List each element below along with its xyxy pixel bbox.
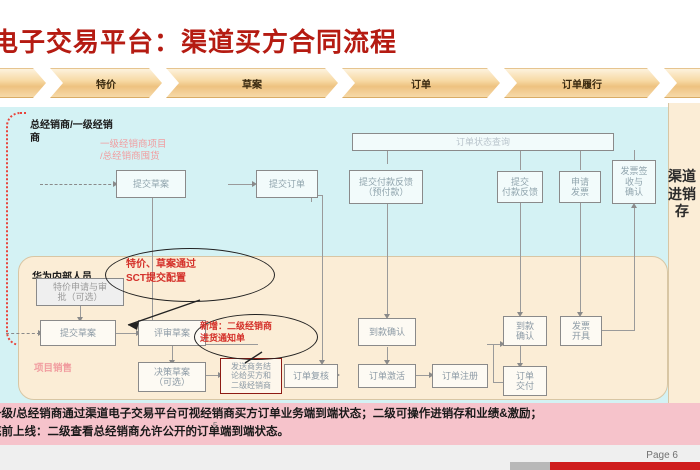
footer-grey-tab bbox=[510, 462, 550, 470]
box-submit-order[interactable]: 提交订单 bbox=[256, 170, 318, 198]
connector bbox=[228, 184, 254, 185]
lane-label-project-sales: 项目销售 bbox=[34, 363, 124, 375]
box-invoice-issue[interactable]: 发票 开具 bbox=[560, 316, 602, 346]
connector bbox=[387, 203, 388, 317]
connector-dash-in-top bbox=[40, 184, 116, 185]
connector bbox=[634, 225, 635, 331]
right-lane-vertical-label: 渠道进销存 bbox=[668, 168, 696, 221]
box-send-business-conclusion[interactable]: 发送商务结 论给买方和 二级经销商 bbox=[220, 358, 282, 394]
box-submit-payment-feedback-prepay[interactable]: 提交付款反馈 （预付款） bbox=[349, 170, 423, 204]
connector bbox=[580, 202, 581, 315]
box-order-delivery[interactable]: 订单 交付 bbox=[503, 366, 547, 396]
connector bbox=[580, 150, 581, 170]
right-lane-panel bbox=[668, 103, 700, 403]
box-order-register[interactable]: 订单注册 bbox=[432, 364, 488, 388]
connector bbox=[520, 150, 521, 170]
connector bbox=[634, 206, 635, 226]
box-decision-draft[interactable]: 决策草案 （可选） bbox=[138, 362, 206, 392]
page-title: 电子交易平台：渠道买方合同流程 bbox=[0, 22, 397, 59]
bottom-note-line1: 一级/总经销商通过渠道电子交易平台可视经销商买方订单业务端到端状态；二级可操作进… bbox=[0, 406, 700, 424]
box-order-recheck[interactable]: 订单复核 bbox=[284, 364, 338, 388]
banner-segment-1[interactable]: 特价 bbox=[50, 68, 162, 98]
box-invoice-sign-confirm[interactable]: 发票签 收与 确认 bbox=[612, 160, 656, 204]
connector bbox=[493, 344, 494, 382]
connector bbox=[116, 333, 138, 334]
banner-segment-2[interactable]: 草案 bbox=[166, 68, 338, 98]
box-payment-confirm-mid[interactable]: 到款确认 bbox=[358, 318, 416, 346]
footer-red-tab bbox=[550, 462, 700, 470]
bottom-note-line2: 底前上线：二级查看总经销商允许公开的订单端到端状态。 bbox=[0, 424, 700, 442]
connector-dash-in-beige bbox=[6, 333, 40, 334]
box-order-activate[interactable]: 订单激活 bbox=[358, 364, 416, 388]
page-number: Page 6 bbox=[646, 450, 678, 461]
slide-root: 电子交易平台：渠道买方合同流程 特价 草案 订单 订单履行 总经销商/一级经销 … bbox=[0, 0, 700, 470]
connector bbox=[493, 382, 503, 383]
connector bbox=[387, 150, 388, 164]
annotation-note-sct: 特价、草案通过 SCT提交配置 bbox=[126, 258, 266, 285]
banner-segment-5[interactable] bbox=[664, 68, 700, 98]
box-submit-payment-feedback[interactable]: 提交 付款反馈 bbox=[497, 171, 543, 203]
connector bbox=[322, 195, 323, 363]
box-apply-invoice[interactable]: 申请 发票 bbox=[559, 171, 601, 203]
process-banner: 特价 草案 订单 订单履行 bbox=[0, 68, 700, 98]
distributor-note: 一级经销商项目 /总经销商囤货 bbox=[100, 139, 220, 164]
box-submit-draft-top[interactable]: 提交草案 bbox=[116, 170, 186, 198]
banner-segment-4[interactable]: 订单履行 bbox=[504, 68, 660, 98]
box-submit-draft[interactable]: 提交草案 bbox=[40, 320, 116, 346]
connector bbox=[520, 202, 521, 315]
banner-segment-0[interactable] bbox=[0, 68, 46, 98]
banner-segment-3[interactable]: 订单 bbox=[342, 68, 500, 98]
box-order-status-query[interactable]: 订单状态查询 bbox=[352, 133, 614, 151]
connector bbox=[600, 330, 635, 331]
slide-number-small: 5 bbox=[213, 421, 217, 430]
box-payment-confirm-right[interactable]: 到款 确认 bbox=[503, 316, 547, 346]
annotation-note-new-secondary: 新增：二级经销商 进货通知单 bbox=[200, 320, 320, 344]
